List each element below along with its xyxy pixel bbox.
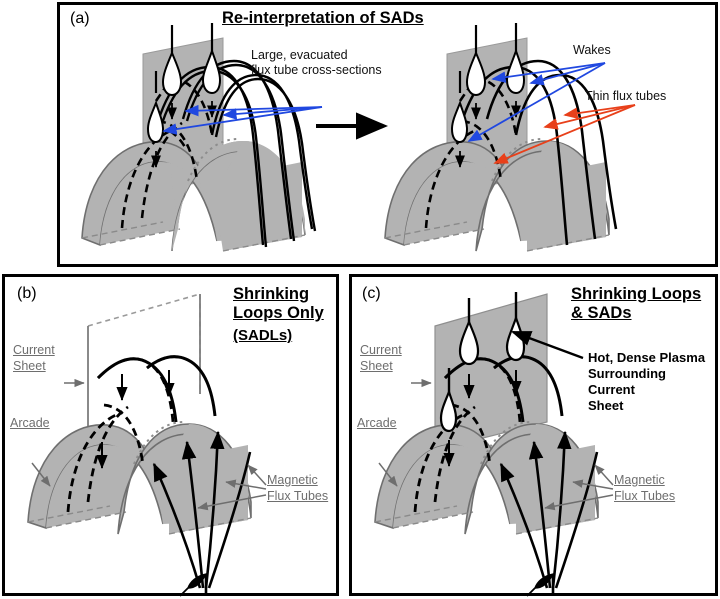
label-arcade-c: Arcade <box>357 416 397 432</box>
scene-b <box>10 282 340 594</box>
label-magnetic-flux-tubes-b: Magnetic Flux Tubes <box>267 473 328 504</box>
label-magnetic-flux-tubes-c: Magnetic Flux Tubes <box>614 473 675 504</box>
figure-root: (a) Re-interpretation of SADs <box>0 0 720 599</box>
scene-a-right <box>395 23 720 263</box>
panel-a: (a) Re-interpretation of SADs <box>57 2 718 267</box>
panel-b: (b) ShrinkingLoops Only (SADLs) <box>2 274 339 596</box>
panel-c: (c) Shrinking Loops& SADs <box>349 274 718 596</box>
transition-arrow-icon <box>310 110 400 142</box>
callout-large-evacuated-flux-tube: Large, evacuatedflux tube cross-sections <box>251 48 411 78</box>
scene-c <box>357 282 717 594</box>
callout-large-evacuated-line1: Large, evacuated <box>251 48 348 62</box>
label-current-sheet-c: Current Sheet <box>360 343 402 374</box>
callout-wakes: Wakes <box>573 43 611 58</box>
callout-thin-flux-tubes: Thin flux tubes <box>585 89 666 104</box>
callout-hot-dense-plasma: Hot, Dense Plasma Surrounding Current Sh… <box>588 350 716 414</box>
label-arcade-b: Arcade <box>10 416 50 432</box>
label-current-sheet-b: Current Sheet <box>13 343 55 374</box>
callout-large-evacuated-line2: flux tube cross-sections <box>251 63 382 77</box>
